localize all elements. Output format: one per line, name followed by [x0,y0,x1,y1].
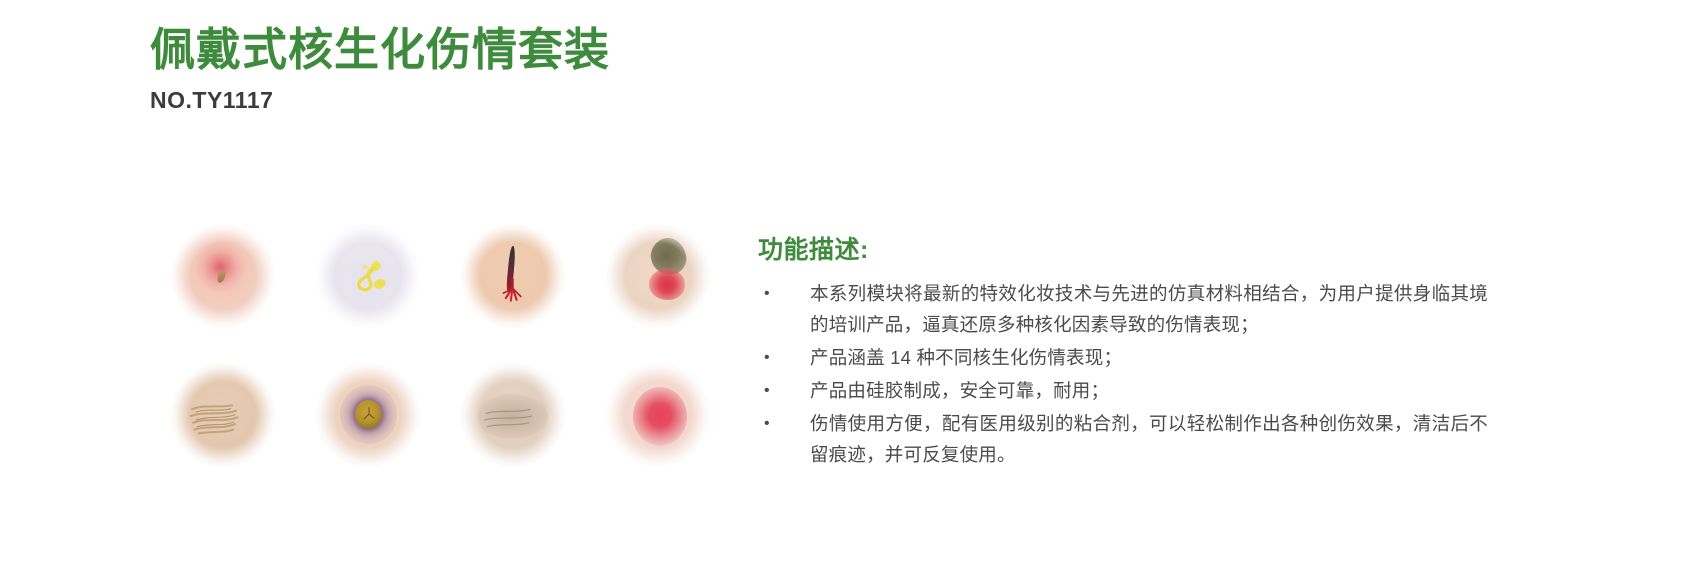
laceration-lesion [461,224,565,328]
eschar-lesion [606,224,710,328]
erythema-lesion [171,224,275,328]
abrasion-lesion [171,363,275,467]
moulage-tile-6 [295,345,440,484]
bullet-marker-icon: • [758,408,810,439]
eschar-burn-moulage [606,224,710,328]
moulage-tile-3 [440,206,585,345]
scratch-marks [185,400,258,437]
product-number: NO.TY1117 [150,87,610,114]
description-heading: 功能描述: [758,230,1488,266]
list-item: • 伤情使用方便，配有医用级别的粘合剂，可以轻松制作出各种创伤效果，清洁后不留痕… [758,408,1488,470]
list-item: • 产品由硅胶制成，安全可靠，耐用； [758,375,1488,406]
moulage-tile-7 [440,345,585,484]
yellow-serous-blister-icon [347,253,394,300]
moulage-tile-4 [585,206,730,345]
necrotic-ulcer-moulage [316,363,420,467]
ulcer-lesion [316,363,420,467]
erythematous-rash [633,387,687,445]
bullet-text: 产品涵盖 14 种不同核生化伤情表现； [810,342,1488,373]
chemical-rash-moulage [606,363,710,467]
bullet-marker-icon: • [758,342,810,373]
rash-lesion [606,363,710,467]
contusion-mottling-moulage [461,363,565,467]
blister-vesicle-moulage [316,224,420,328]
product-image-gallery [150,206,730,484]
bullet-text: 产品由硅胶制成，安全可靠，耐用； [810,375,1488,406]
blister-lesion [316,224,420,328]
granulation-tissue [649,269,684,300]
ulcer-crater [355,400,382,429]
abrasion-scratch-moulage [171,363,275,467]
moulage-tile-8 [585,345,730,484]
moulage-tile-1 [150,206,295,345]
radiation-erythema-moulage [171,224,275,328]
faint-striations [475,400,548,437]
product-catalog-page: 佩戴式核生化伤情套装 NO.TY1117 [0,0,1700,561]
page-header: 佩戴式核生化伤情套装 NO.TY1117 [150,26,610,114]
blood-flow [500,278,525,309]
laceration-bleeding-moulage [461,224,565,328]
bullet-text: 伤情使用方便，配有医用级别的粘合剂，可以轻松制作出各种创伤效果，清洁后不留痕迹，… [810,408,1488,470]
bullet-marker-icon: • [758,375,810,406]
moulage-tile-2 [295,206,440,345]
bullet-text: 本系列模块将最新的特效化妆技术与先进的仿真材料相结合，为用户提供身临其境的培训产… [810,278,1488,340]
bullet-marker-icon: • [758,278,810,309]
feature-bullet-list: • 本系列模块将最新的特效化妆技术与先进的仿真材料相结合，为用户提供身临其境的培… [758,278,1488,470]
list-item: • 产品涵盖 14 种不同核生化伤情表现； [758,342,1488,373]
function-description-panel: 功能描述: • 本系列模块将最新的特效化妆技术与先进的仿真材料相结合，为用户提供… [758,230,1488,472]
moulage-tile-5 [150,345,295,484]
page-title: 佩戴式核生化伤情套装 [150,26,610,75]
list-item: • 本系列模块将最新的特效化妆技术与先进的仿真材料相结合，为用户提供身临其境的培… [758,278,1488,340]
crater-fissure-icon [362,407,376,422]
mottling-lesion [461,363,565,467]
